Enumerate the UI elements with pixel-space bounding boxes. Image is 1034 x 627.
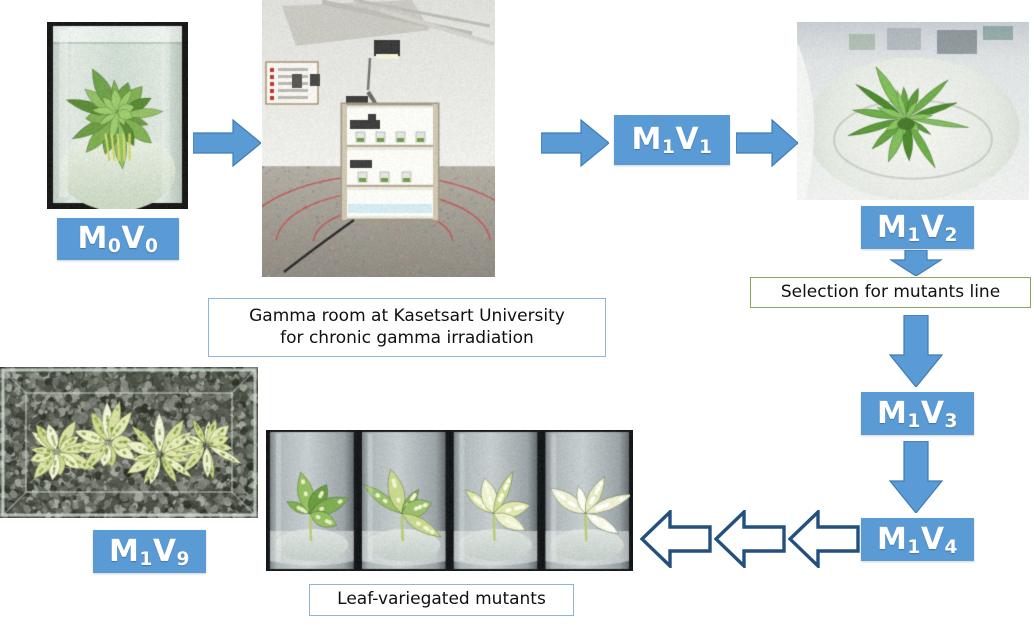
- arrow-left-outline-1: [640, 510, 712, 568]
- photo-m1v9-tray: [0, 367, 258, 518]
- label-m1v9-text: M1V9: [109, 537, 190, 567]
- caption-selection-text: Selection for mutants line: [781, 282, 1000, 303]
- label-m0v0: M0V0: [57, 218, 179, 260]
- arrow-right-to-m1v1: [541, 117, 609, 169]
- arrow-down-to-m1v4: [887, 441, 945, 513]
- label-m1v4: M1V4: [861, 518, 974, 561]
- arrow-down-to-m1v3: [887, 315, 945, 387]
- caption-variegated-text: Leaf-variegated mutants: [337, 589, 546, 610]
- photo-mother-culture: [47, 22, 188, 209]
- label-m1v4-text: M1V4: [877, 525, 958, 555]
- label-m1v1-text: M1V1: [632, 125, 713, 155]
- photo-mutant-jars: [266, 430, 633, 571]
- arrow-left-outline-3: [788, 510, 860, 568]
- caption-gamma-room-line1: Gamma room at Kasetsart University: [249, 306, 565, 327]
- label-m1v3: M1V3: [861, 392, 974, 435]
- label-m0v0-text: M0V0: [78, 224, 159, 254]
- figure-canvas: M0V0 M1V1 M1V2 M1V3 M1V4 M1V9 Gamma room…: [0, 0, 1034, 627]
- label-m1v2: M1V2: [861, 206, 974, 249]
- arrow-left-outline-2: [714, 510, 786, 568]
- label-m1v9: M1V9: [93, 530, 206, 573]
- label-m1v3-text: M1V3: [877, 399, 958, 429]
- caption-gamma-room: Gamma room at Kasetsart University for c…: [208, 298, 606, 357]
- caption-selection: Selection for mutants line: [750, 277, 1031, 308]
- photo-gamma-room: [262, 0, 495, 277]
- label-m1v2-text: M1V2: [877, 213, 958, 243]
- arrow-down-to-selection: [888, 250, 944, 276]
- caption-gamma-room-line2: for chronic gamma irradiation: [249, 328, 565, 349]
- photo-m1v2-culture: [797, 22, 1029, 200]
- caption-variegated: Leaf-variegated mutants: [309, 584, 574, 616]
- label-m1v1: M1V1: [614, 115, 730, 165]
- arrow-right-to-m1v2-photo: [736, 117, 798, 169]
- arrow-right-to-gamma-room: [193, 117, 261, 169]
